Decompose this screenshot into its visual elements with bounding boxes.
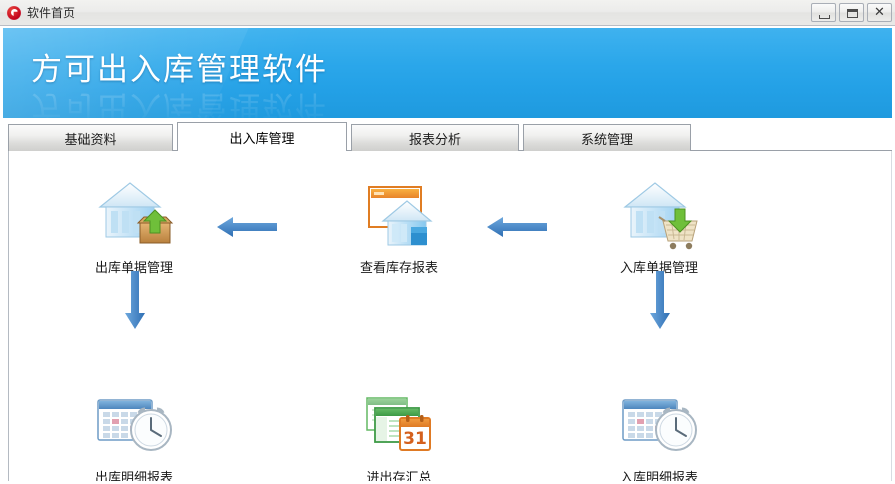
arrow-inbound-to-inventory-icon [487, 213, 549, 241]
arrow-inbound-to-detail-icon [646, 269, 674, 331]
warehouse-outbound-box-icon [54, 177, 214, 255]
window-controls: ✕ [811, 3, 892, 22]
app-logo-icon [7, 6, 21, 20]
tile-outbound-document-management[interactable]: 出库单据管理 [54, 177, 214, 277]
titlebar-left: 软件首页 [0, 6, 75, 20]
tab-label: 出入库管理 [229, 128, 294, 147]
tabstrip: 基础资料 出入库管理 报表分析 系统管理 [0, 122, 895, 151]
window-title: 软件首页 [27, 6, 75, 20]
maximize-button[interactable] [839, 3, 864, 22]
tile-stock-summary[interactable]: 31 进出存汇总 [319, 387, 479, 481]
flow-diagram: 出库单据管理 [9, 151, 891, 481]
tab-report-analysis[interactable]: 报表分析 [351, 124, 519, 151]
banner-wrapper: 方可出入库管理软件 方可出入库管理软件 [0, 26, 895, 118]
tile-label: 出库明细报表 [54, 471, 214, 481]
app-window: 软件首页 ✕ 方可出入库管理软件 方可出入库管理软件 基础资料 出入库管理 [0, 0, 895, 484]
tile-label: 进出存汇总 [319, 471, 479, 481]
minimize-button[interactable] [811, 3, 836, 22]
tab-label: 报表分析 [409, 129, 461, 148]
tile-label: 入库明细报表 [579, 471, 739, 481]
warehouse-inbound-cart-icon [579, 177, 739, 255]
content-panel: 出库单据管理 [8, 151, 892, 481]
inventory-report-window-icon [319, 177, 479, 255]
tab-label: 系统管理 [581, 129, 633, 148]
tile-label: 查看库存报表 [319, 261, 479, 277]
minimize-icon [819, 15, 830, 19]
tab-inventory-management[interactable]: 出入库管理 [177, 122, 347, 151]
tile-inbound-detail-report[interactable]: 入库明细报表 [579, 387, 739, 481]
maximize-icon [847, 9, 858, 18]
arrow-outbound-to-detail-icon [121, 269, 149, 331]
tab-basic-data[interactable]: 基础资料 [8, 124, 173, 151]
tile-view-inventory-report[interactable]: 查看库存报表 [319, 177, 479, 277]
calendar-clock-icon [54, 387, 214, 465]
tile-outbound-detail-report[interactable]: 出库明细报表 [54, 387, 214, 481]
titlebar: 软件首页 ✕ [0, 0, 895, 26]
tab-label: 基础资料 [64, 129, 116, 148]
page-title-reflection: 方可出入库管理软件 [31, 88, 328, 118]
tile-inbound-document-management[interactable]: 入库单据管理 [579, 177, 739, 277]
app-banner: 方可出入库管理软件 方可出入库管理软件 [3, 28, 892, 118]
close-icon: ✕ [868, 4, 891, 21]
green-windows-calendar-icon: 31 [319, 387, 479, 465]
svg-text:31: 31 [403, 429, 427, 449]
arrow-inventory-to-outbound-icon [217, 213, 279, 241]
page-title: 方可出入库管理软件 [31, 52, 328, 88]
close-button[interactable]: ✕ [867, 3, 892, 22]
tab-system-management[interactable]: 系统管理 [523, 124, 691, 151]
calendar-clock-icon [579, 387, 739, 465]
